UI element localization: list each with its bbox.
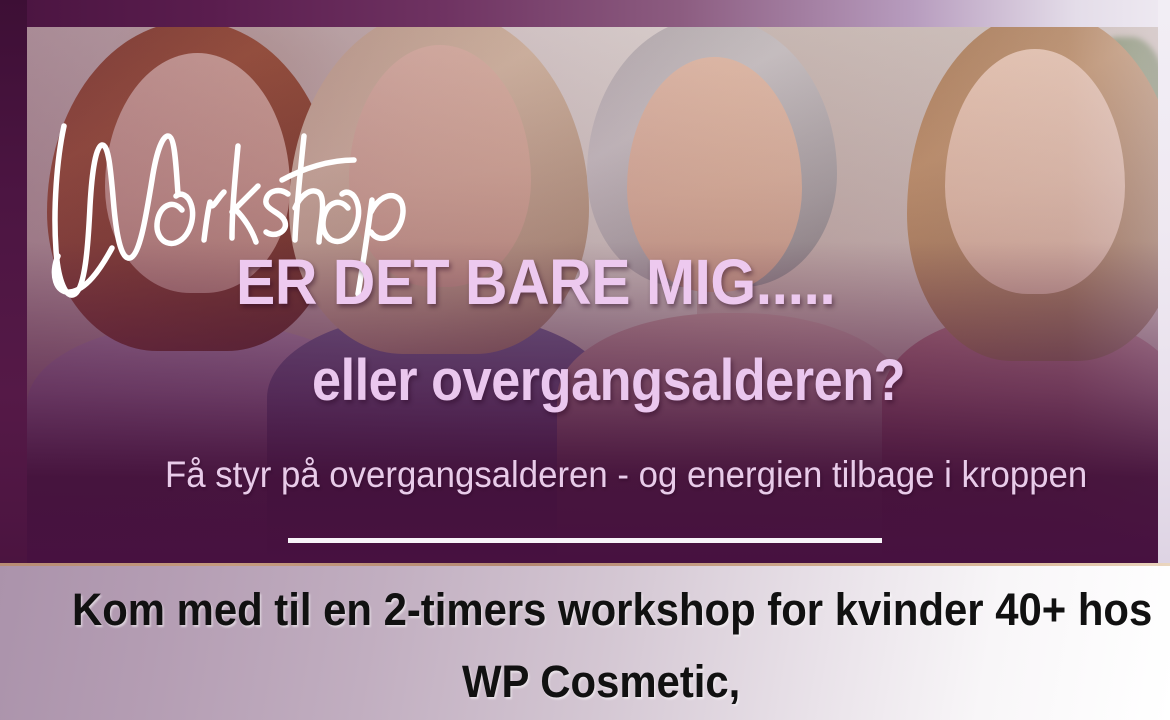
hero-subtitle: Få styr på overgangsalderen - og energie… <box>165 456 1087 493</box>
band-top-accent-line <box>0 563 1170 566</box>
headline-line-2: eller overgangsalderen? <box>312 352 905 410</box>
hero-left-purple-band <box>0 0 27 563</box>
bottom-info-band: Kom med til en 2-timers workshop for kvi… <box>0 563 1170 720</box>
workshop-poster: ER DET BARE MIG..... eller overgangsalde… <box>0 0 1170 720</box>
bottom-text-line-1: Kom med til en 2-timers workshop for kvi… <box>72 587 1152 632</box>
headline-line-1: ER DET BARE MIG..... <box>236 250 835 314</box>
hero-top-gradient-strip <box>0 0 1170 27</box>
hero-right-light-band <box>1158 0 1170 563</box>
horizontal-divider-rule <box>288 538 882 543</box>
hero-banner: ER DET BARE MIG..... eller overgangsalde… <box>0 0 1170 563</box>
bottom-text-line-2: WP Cosmetic, <box>462 659 740 704</box>
